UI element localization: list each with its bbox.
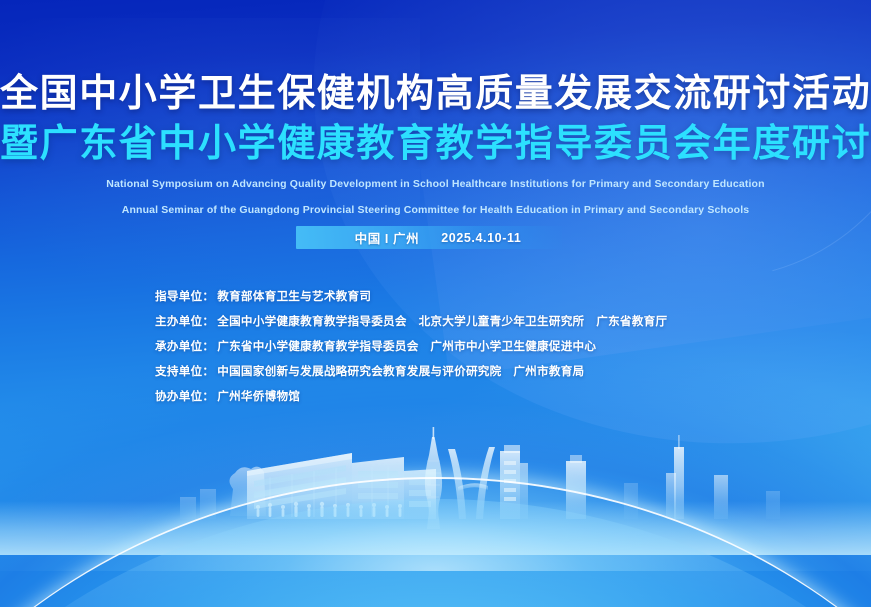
organizer-value: 广东省中小学健康教育教学指导委员会 广州市中小学卫生健康促进中心 (217, 338, 596, 354)
organizer-value: 教育部体育卫生与艺术教育司 (217, 288, 371, 304)
school-building-icon (229, 453, 436, 519)
horizon-arc-line (0, 477, 871, 607)
skyline-svg (0, 427, 871, 547)
event-date: 2025.4.10-11 (441, 231, 521, 245)
ground-haze (0, 501, 871, 555)
skyline-illustration (0, 427, 871, 547)
canton-tower-icon (425, 427, 442, 529)
organizer-row: 主办单位： 全国中小学健康教育教学指导委员会 北京大学儿童青少年卫生研究所 广东… (155, 313, 667, 338)
poster-subtitle-en-line1: National Symposium on Advancing Quality … (0, 177, 871, 192)
organizer-label: 协办单位： (155, 388, 214, 404)
event-location: 中国 I 广州 (337, 228, 420, 247)
organizer-value: 中国国家创新与发展战略研究会教育发展与评价研究院 广州市教育局 (217, 363, 584, 379)
conference-poster: 全国中小学卫生保健机构高质量发展交流研讨活动 暨广东省中小学健康教育教学指导委员… (0, 0, 871, 607)
twin-spire-icon (448, 447, 495, 519)
organizer-row: 协办单位： 广州华侨博物馆 (155, 388, 667, 413)
skyline-tower-icon (714, 475, 728, 519)
poster-title-primary: 全国中小学卫生保健机构高质量发展交流研讨活动 (0, 72, 871, 116)
headline-block: 全国中小学卫生保健机构高质量发展交流研讨活动 暨广东省中小学健康教育教学指导委员… (0, 72, 871, 218)
skyline-tower-icon (666, 435, 684, 519)
organizer-label: 主办单位： (155, 313, 214, 329)
organizer-row: 支持单位： 中国国家创新与发展战略研究会教育发展与评价研究院 广州市教育局 (155, 363, 667, 388)
organizer-row: 指导单位： 教育部体育卫生与艺术教育司 (155, 288, 667, 313)
stepped-tower-icon (500, 445, 528, 519)
organizer-label: 指导单位： (155, 288, 214, 304)
skyline-tower-icon (180, 489, 216, 519)
skyline-tower-icon (566, 455, 586, 519)
organizer-list: 指导单位： 教育部体育卫生与艺术教育司 主办单位： 全国中小学健康教育教学指导委… (155, 288, 667, 413)
organizer-label: 承办单位： (155, 338, 214, 354)
skyline-tower-icon (624, 483, 780, 519)
poster-subtitle-en-line2: Annual Seminar of the Guangdong Provinci… (0, 203, 871, 218)
horizon-glow (0, 401, 871, 571)
poster-title-secondary: 暨广东省中小学健康教育教学指导委员会年度研讨活动 (0, 122, 871, 166)
event-meta-bar: 中国 I 广州 2025.4.10-11 (296, 226, 562, 249)
horizon-arc-fill (0, 499, 871, 607)
organizer-row: 承办单位： 广东省中小学健康教育教学指导委员会 广州市中小学卫生健康促进中心 (155, 338, 667, 363)
organizer-label: 支持单位： (155, 363, 214, 379)
organizer-value: 广州华侨博物馆 (217, 388, 300, 404)
organizer-value: 全国中小学健康教育教学指导委员会 北京大学儿童青少年卫生研究所 广东省教育厅 (217, 313, 667, 329)
